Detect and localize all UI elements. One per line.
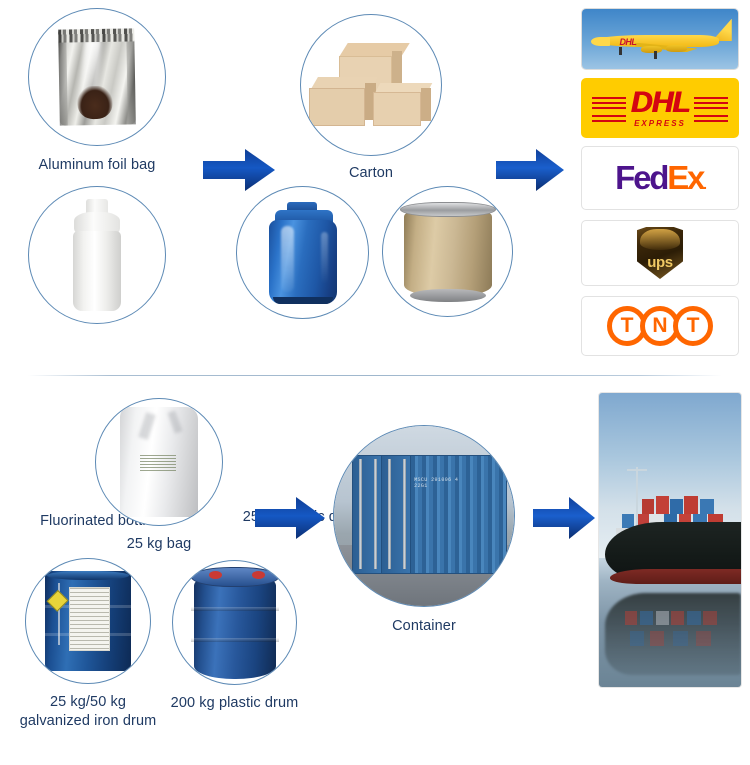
galvanized-iron-drum-label: 25 kg/50 kg galvanized iron drum [3, 693, 173, 731]
fedex-logo-icon: FedEx. [615, 159, 705, 197]
plastic-drum-25kg-circle [236, 186, 369, 319]
courier-fedex[interactable]: FedEx. [581, 146, 739, 210]
blue-200kg-drum-icon [191, 567, 279, 679]
item-plastic-drum-200kg: 200 kg plastic drum [172, 560, 297, 685]
fiber-drum-circle [382, 186, 513, 317]
galvanized-drum-label-line1: 25 kg/50 kg [50, 694, 126, 710]
aluminum-foil-bag-icon [58, 28, 136, 125]
fluorinated-bottle-circle [28, 186, 166, 324]
container-marking-line2: 22G1 [414, 483, 458, 489]
section-divider [28, 375, 722, 376]
dhl-express-sublabel: EXPRESS [634, 119, 686, 128]
aluminum-foil-bag-label: Aluminum foil bag [39, 156, 156, 175]
infographic-canvas: Aluminum foil bag Fluorinated bottle [0, 0, 750, 765]
dhl-wordmark: DHL [631, 88, 690, 118]
item-carton: Carton [300, 14, 442, 156]
item-fiber-drum-25kg: 25 kg fiber drum [382, 186, 513, 317]
fedex-fed-text: Fed [615, 159, 667, 196]
container-marking-line1: MSCU 291006 4 [414, 477, 458, 483]
galvanized-iron-drum-circle [25, 558, 151, 684]
fedex-ex-text: Ex [667, 159, 703, 196]
plastic-drum-200kg-label: 200 kg plastic drum [171, 694, 299, 713]
shipping-container-icon: MSCU 291006 4 22G1 [334, 426, 514, 606]
carton-circle [300, 14, 442, 156]
courier-ups[interactable]: ups [581, 220, 739, 286]
arrow-outer-to-courier [496, 148, 564, 192]
dhl-cargo-plane-icon: DHL [582, 9, 738, 69]
item-container: MSCU 291006 4 22G1 Container [333, 425, 515, 607]
item-fluorinated-bottle: Fluorinated bottle [28, 186, 166, 324]
courier-tnt[interactable]: T N T [581, 296, 739, 356]
tnt-logo-icon: T N T [607, 306, 713, 346]
tnt-letter-3: T [673, 306, 713, 346]
ups-wordmark: ups [637, 254, 683, 271]
plastic-drum-200kg-circle [172, 560, 297, 685]
fluorinated-bottle-icon [69, 199, 125, 311]
dhl-express-logo-icon: DHL EXPRESS [582, 79, 738, 137]
item-galvanized-iron-drum: 25 kg/50 kg galvanized iron drum [25, 558, 151, 684]
plastic-drum-icon [267, 202, 339, 304]
item-plastic-drum-25kg: 25 kg plastic drum [236, 186, 369, 319]
courier-dhl-aircraft[interactable]: DHL [581, 8, 739, 70]
container-label: Container [392, 617, 456, 636]
item-aluminum-foil-bag: Aluminum foil bag [28, 8, 166, 146]
item-cargo-ship [598, 392, 742, 688]
arrow-packaging-to-container [255, 495, 325, 541]
ups-shield-icon: ups [637, 227, 683, 279]
fiber-drum-icon [400, 202, 496, 302]
container-circle: MSCU 291006 4 22G1 [333, 425, 515, 607]
fedex-dot: . [703, 176, 705, 192]
bag-25kg-circle [95, 398, 223, 526]
carton-icon [309, 43, 433, 127]
dhl-plane-livery-text: DHL [619, 37, 636, 47]
bag-25kg-label: 25 kg bag [127, 535, 192, 554]
galvanized-drum-label-line2: galvanized iron drum [20, 713, 157, 729]
woven-bag-icon [120, 407, 198, 517]
item-bag-25kg: 25 kg bag [95, 398, 223, 526]
galvanized-iron-drum-icon [45, 571, 131, 671]
carton-label: Carton [349, 164, 393, 183]
arrow-container-to-ship [533, 495, 595, 541]
aluminum-foil-bag-circle [28, 8, 166, 146]
courier-dhl-express[interactable]: DHL EXPRESS [581, 78, 739, 138]
container-ship-icon [599, 393, 741, 687]
